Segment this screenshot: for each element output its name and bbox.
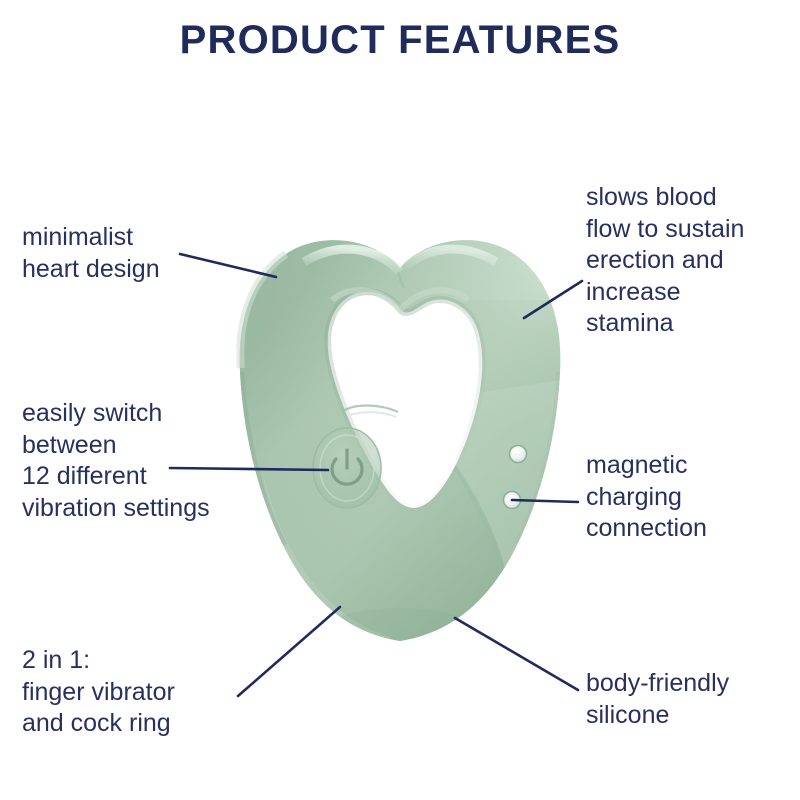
callout-line: magnetic <box>586 450 707 482</box>
callout-line: body-friendly <box>586 668 729 700</box>
leader-magnetic <box>512 500 578 502</box>
callout-line: 12 different <box>22 461 210 493</box>
callout-line: erection and <box>586 245 744 277</box>
callout-body-friendly-silicone: body-friendly silicone <box>586 668 729 731</box>
callout-line: silicone <box>586 700 729 732</box>
callout-line: 2 in 1: <box>22 645 175 677</box>
callout-line: charging <box>586 482 707 514</box>
leader-silicone <box>455 618 578 690</box>
callout-magnetic-charging: magnetic charging connection <box>586 450 707 545</box>
callout-line: connection <box>586 513 707 545</box>
callout-line: increase <box>586 277 744 309</box>
callout-line: heart design <box>22 254 160 286</box>
callout-line: flow to sustain <box>586 214 744 246</box>
leader-minimalist <box>180 254 276 277</box>
callout-minimalist-heart-design: minimalist heart design <box>22 222 160 285</box>
callout-line: and cock ring <box>22 708 175 740</box>
callout-line: finger vibrator <box>22 677 175 709</box>
callout-easily-switch-settings: easily switch between 12 different vibra… <box>22 398 210 524</box>
callout-line: minimalist <box>22 222 160 254</box>
callout-line: vibration settings <box>22 493 210 525</box>
callout-line: easily switch <box>22 398 210 430</box>
product-features-infographic: PRODUCT FEATURES <box>0 0 800 800</box>
callout-line: between <box>22 430 210 462</box>
callout-line: slows blood <box>586 182 744 214</box>
callout-line: stamina <box>586 308 744 340</box>
leader-two-in-one <box>238 607 340 696</box>
leader-slows-blood <box>524 281 582 318</box>
callout-slows-blood-flow: slows blood flow to sustain erection and… <box>586 182 744 340</box>
callout-two-in-one: 2 in 1: finger vibrator and cock ring <box>22 645 175 740</box>
